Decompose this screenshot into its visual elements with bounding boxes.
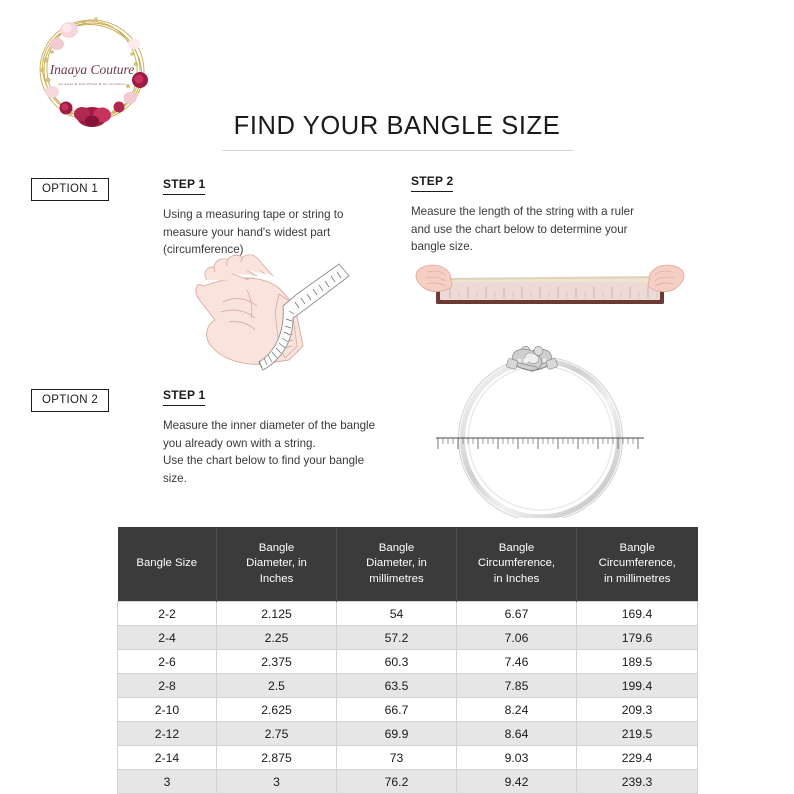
step-body: Measure the inner diameter of the bangle… — [163, 417, 413, 487]
cell-diameter-mm: 69.9 — [337, 722, 457, 746]
cell-bangle-size: 2-2 — [118, 602, 217, 626]
title-divider — [222, 150, 573, 151]
brand-tagline-text: An Asian & Indo Bridal & Occasionwear — [58, 82, 126, 86]
table-header-row: Bangle Size Bangle Diameter, in Inches B… — [118, 527, 698, 602]
cell-bangle-size: 2-14 — [118, 746, 217, 770]
floral-wreath-logo: Inaaya Couture An Asian & Indo Bridal & … — [22, 8, 162, 133]
cell-circumference-inches: 9.42 — [457, 770, 577, 794]
cell-bangle-size: 2-6 — [118, 650, 217, 674]
silver-bangle-with-ruler-illustration — [420, 333, 660, 518]
cell-circumference-mm: 229.4 — [577, 746, 698, 770]
table-row: 2-2 2.125 54 6.67 169.4 — [118, 602, 698, 626]
column-header-circumference-mm: Bangle Circumference, in millimetres — [577, 527, 698, 602]
cell-circumference-inches: 9.03 — [457, 746, 577, 770]
cell-diameter-inches: 2.75 — [217, 722, 337, 746]
cell-circumference-inches: 8.64 — [457, 722, 577, 746]
column-header-diameter-mm: Bangle Diameter, in millimetres — [337, 527, 457, 602]
cell-circumference-inches: 7.46 — [457, 650, 577, 674]
option-2-badge: OPTION 2 — [31, 389, 109, 412]
table-row: 2-12 2.75 69.9 8.64 219.5 — [118, 722, 698, 746]
cell-diameter-mm: 57.2 — [337, 626, 457, 650]
cell-diameter-inches: 2.875 — [217, 746, 337, 770]
table-row: 2-10 2.625 66.7 8.24 209.3 — [118, 698, 698, 722]
table-row: 2-8 2.5 63.5 7.85 199.4 — [118, 674, 698, 698]
cell-diameter-mm: 76.2 — [337, 770, 457, 794]
column-header-circumference-inches: Bangle Circumference, in Inches — [457, 527, 577, 602]
cell-diameter-mm: 54 — [337, 602, 457, 626]
bangle-size-table: Bangle Size Bangle Diameter, in Inches B… — [117, 527, 698, 794]
cell-bangle-size: 3 — [118, 770, 217, 794]
cell-bangle-size: 2-12 — [118, 722, 217, 746]
page-title: FIND YOUR BANGLE SIZE — [197, 112, 597, 140]
step-heading: STEP 1 — [163, 177, 205, 195]
cell-circumference-mm: 199.4 — [577, 674, 698, 698]
step-heading: STEP 2 — [411, 174, 453, 192]
cell-diameter-inches: 3 — [217, 770, 337, 794]
cell-circumference-mm: 209.3 — [577, 698, 698, 722]
table-row: 2-4 2.25 57.2 7.06 179.6 — [118, 626, 698, 650]
table-row: 2-14 2.875 73 9.03 229.4 — [118, 746, 698, 770]
cell-circumference-mm: 169.4 — [577, 602, 698, 626]
cell-circumference-mm: 219.5 — [577, 722, 698, 746]
cell-circumference-inches: 8.24 — [457, 698, 577, 722]
cell-diameter-inches: 2.625 — [217, 698, 337, 722]
cell-diameter-inches: 2.125 — [217, 602, 337, 626]
option-1-step-2: STEP 2 Measure the length of the string … — [411, 172, 671, 256]
column-header-bangle-size: Bangle Size — [118, 527, 217, 602]
diameter-ruler — [436, 438, 644, 449]
hands-holding-string-on-ruler-illustration — [410, 248, 690, 330]
cell-bangle-size: 2-4 — [118, 626, 217, 650]
cell-bangle-size: 2-10 — [118, 698, 217, 722]
cell-diameter-inches: 2.25 — [217, 626, 337, 650]
cell-circumference-mm: 239.3 — [577, 770, 698, 794]
cell-diameter-inches: 2.5 — [217, 674, 337, 698]
cell-bangle-size: 2-8 — [118, 674, 217, 698]
cell-diameter-mm: 66.7 — [337, 698, 457, 722]
cell-diameter-mm: 60.3 — [337, 650, 457, 674]
cell-circumference-inches: 7.85 — [457, 674, 577, 698]
hand-with-measuring-tape-illustration — [163, 250, 363, 380]
table-row: 2-6 2.375 60.3 7.46 189.5 — [118, 650, 698, 674]
cell-diameter-inches: 2.375 — [217, 650, 337, 674]
option-1-step-1: STEP 1 Using a measuring tape or string … — [163, 175, 378, 259]
table-body: 2-2 2.125 54 6.67 169.4 2-4 2.25 57.2 7.… — [118, 602, 698, 794]
step-heading: STEP 1 — [163, 388, 205, 406]
cell-diameter-mm: 73 — [337, 746, 457, 770]
cell-circumference-inches: 7.06 — [457, 626, 577, 650]
column-header-diameter-inches: Bangle Diameter, in Inches — [217, 527, 337, 602]
option-2-step-1: STEP 1 Measure the inner diameter of the… — [163, 386, 413, 487]
cell-circumference-mm: 179.6 — [577, 626, 698, 650]
cell-circumference-mm: 189.5 — [577, 650, 698, 674]
option-1-badge: OPTION 1 — [31, 178, 109, 201]
title-block: FIND YOUR BANGLE SIZE — [197, 112, 597, 151]
table-row: 3 3 76.2 9.42 239.3 — [118, 770, 698, 794]
cell-circumference-inches: 6.67 — [457, 602, 577, 626]
brand-logo: Inaaya Couture An Asian & Indo Bridal & … — [22, 8, 162, 133]
cell-diameter-mm: 63.5 — [337, 674, 457, 698]
brand-name-text: Inaaya Couture — [49, 62, 135, 77]
